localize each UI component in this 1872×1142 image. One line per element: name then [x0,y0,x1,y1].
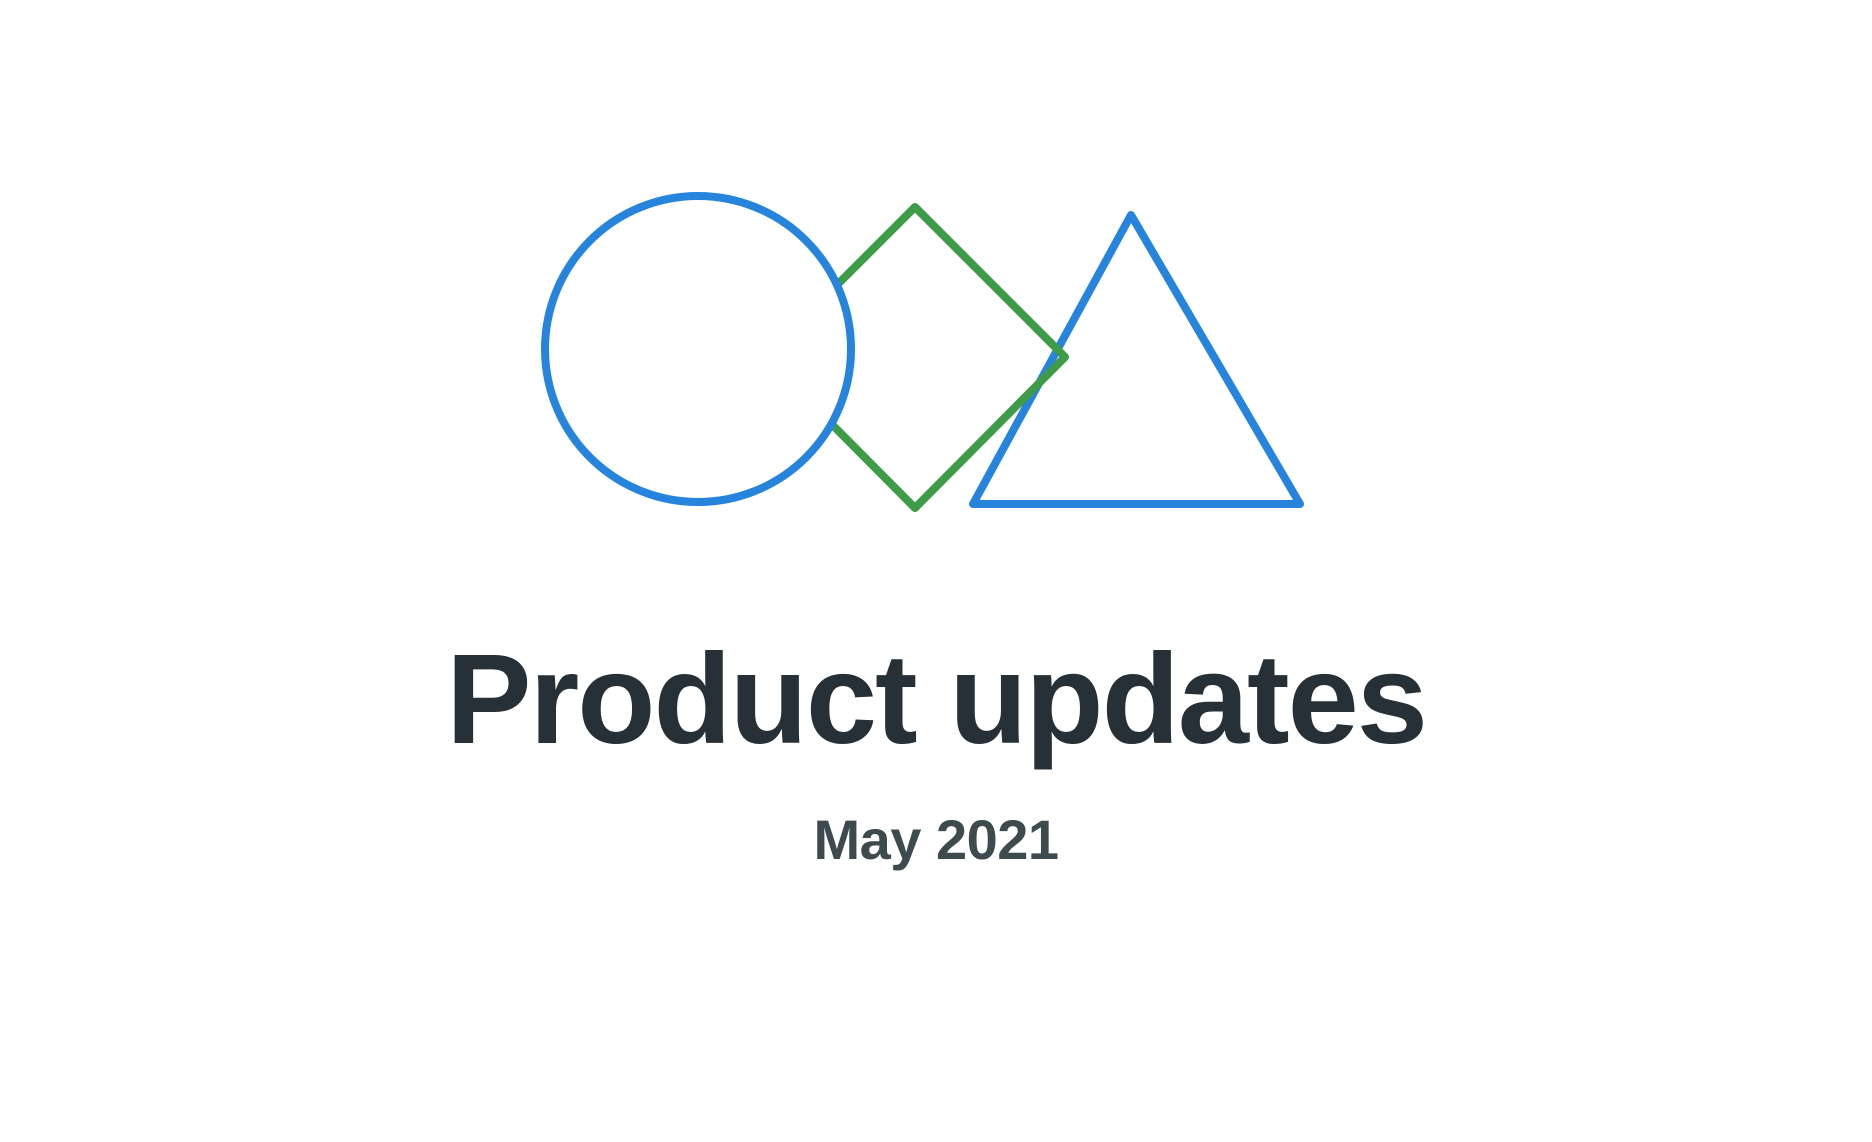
triangle-outline-icon [973,215,1300,504]
page-title: Product updates [0,636,1872,764]
three-shapes-logo [510,170,1330,540]
page-subtitle-date: May 2021 [0,812,1872,868]
slide-canvas: Product updates May 2021 [0,0,1872,1142]
circle-outline-icon [545,196,851,502]
headline-block: Product updates May 2021 [0,636,1872,868]
